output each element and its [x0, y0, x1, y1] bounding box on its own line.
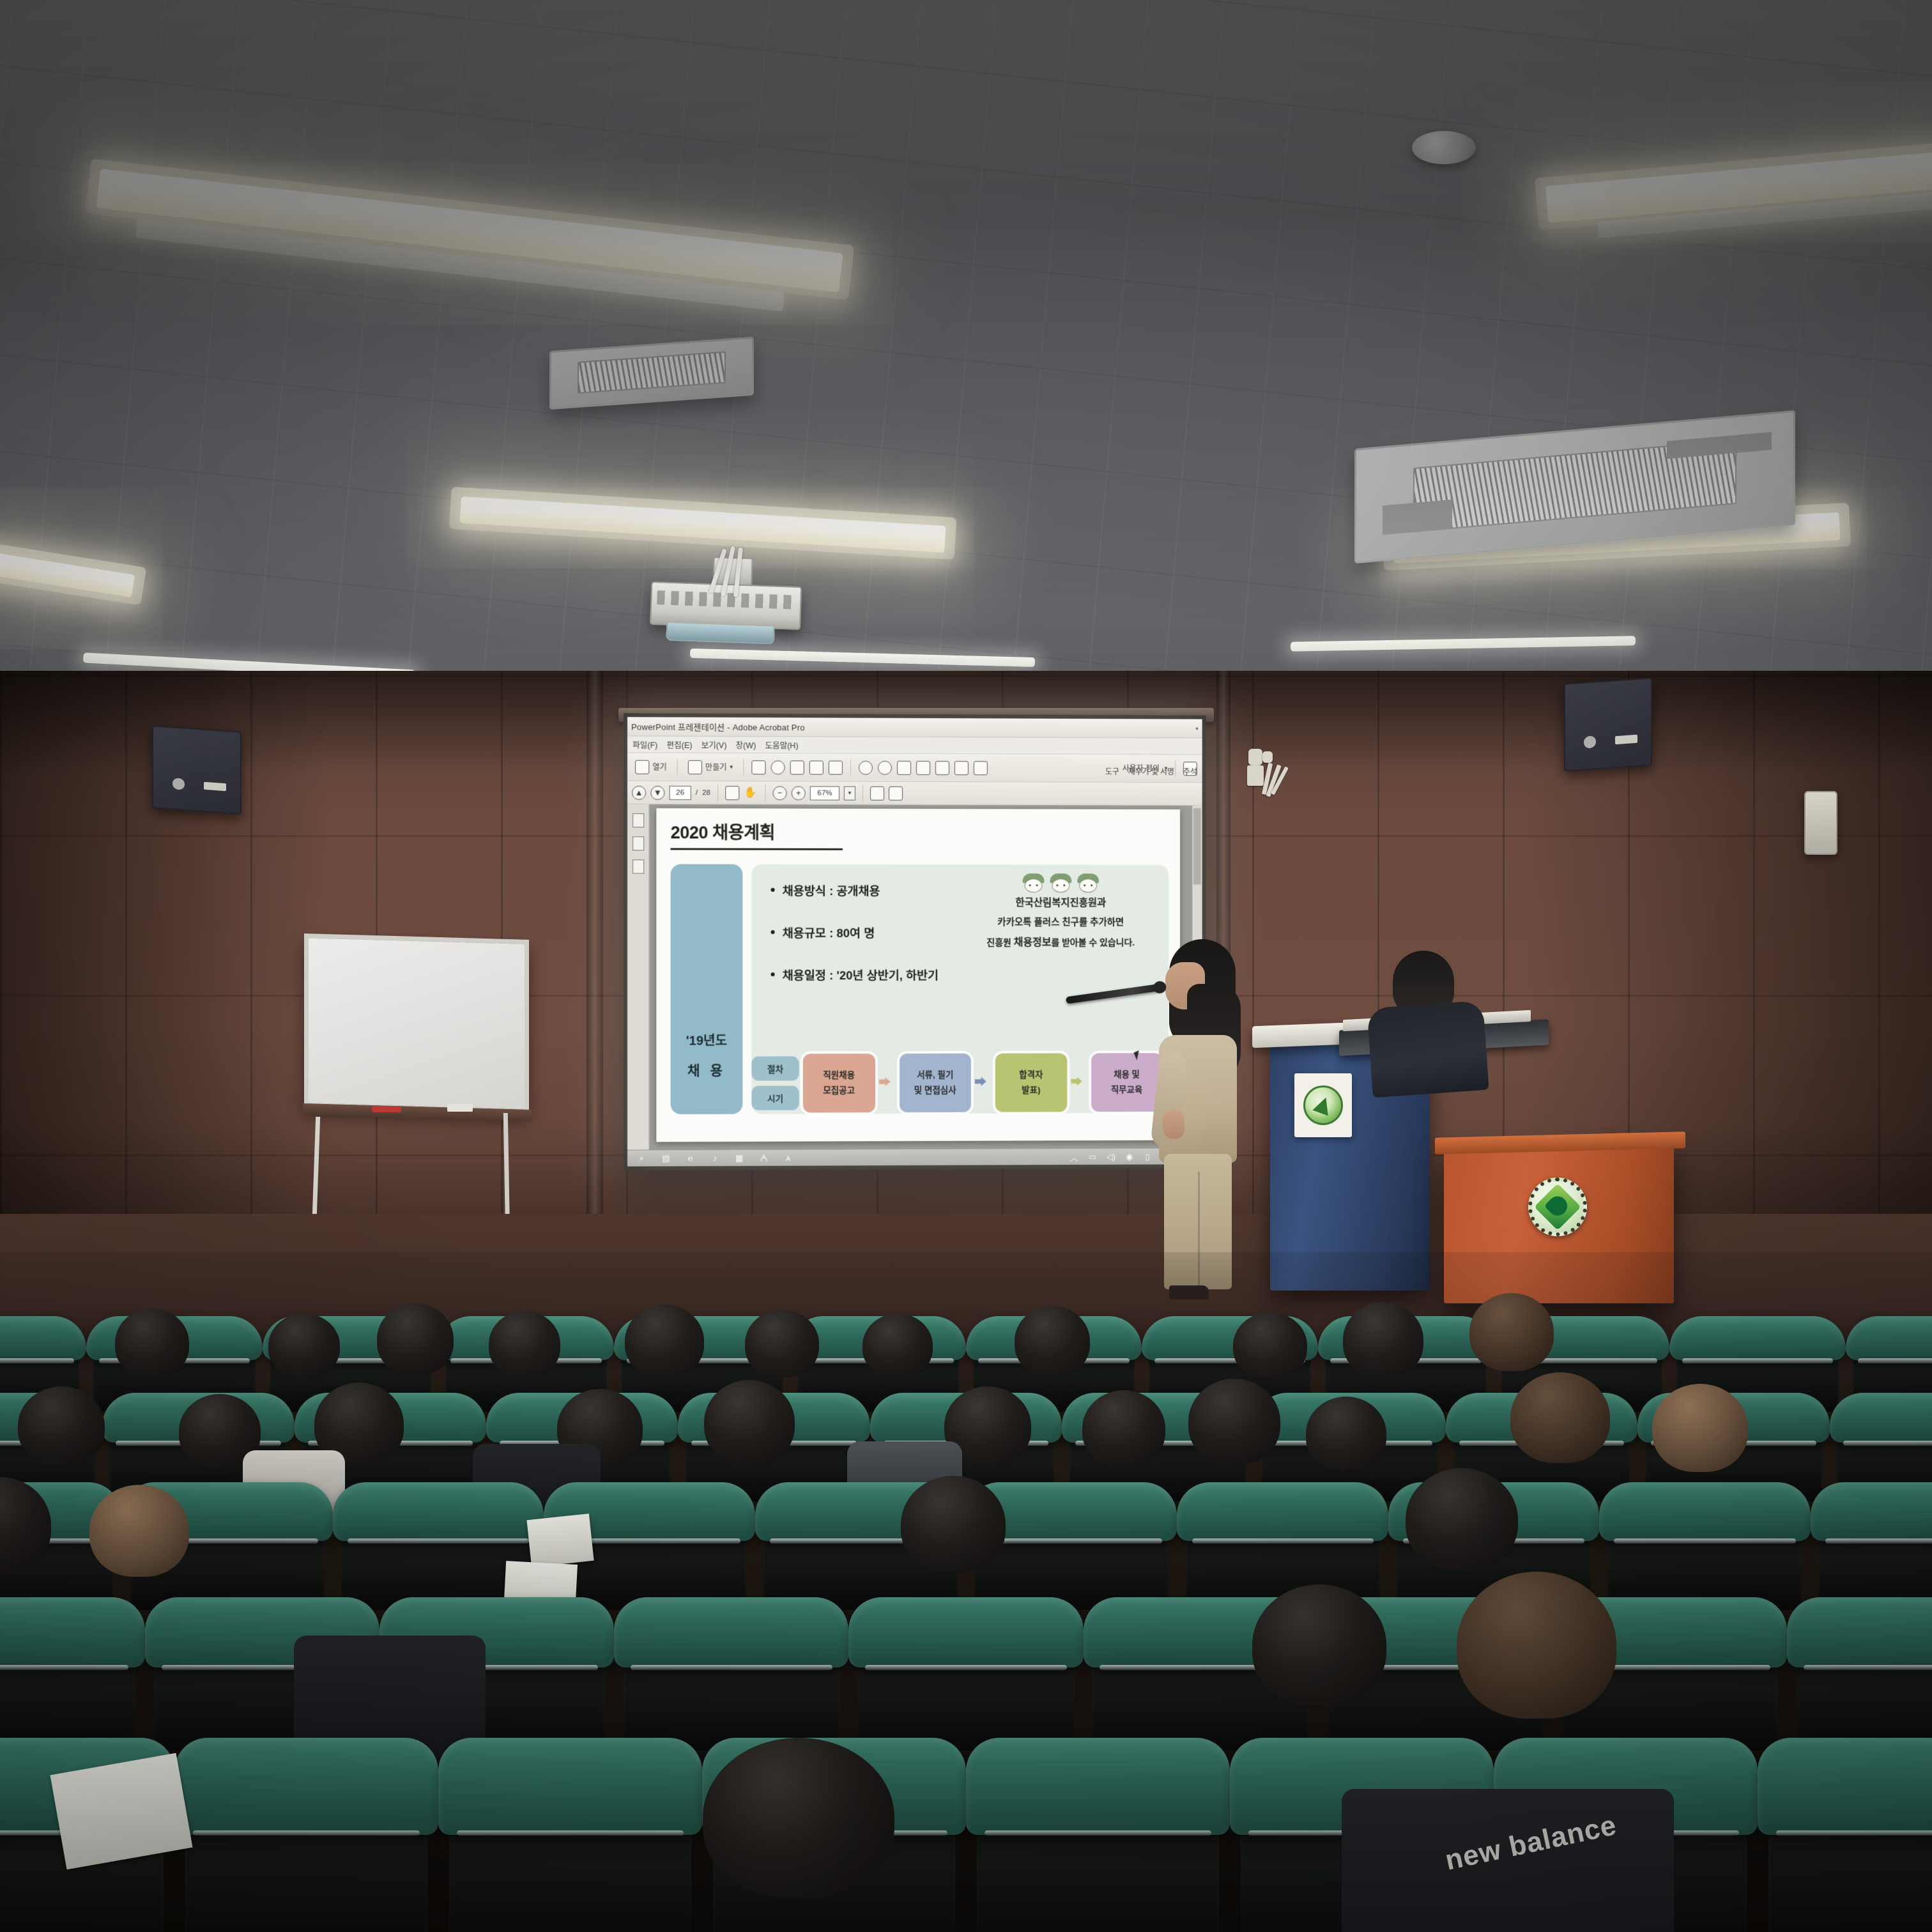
year-tab-line1: '19년도: [686, 1030, 727, 1048]
kakao-line-3-emphasis: 채용정보: [1014, 937, 1052, 948]
slide-body: '19년도 채 용 채용방식 : 공개채용 채용규모 : 80여 명 채용일정 …: [671, 864, 1169, 1115]
create-button[interactable]: 만들기 ▾: [686, 758, 735, 775]
email-icon[interactable]: [829, 760, 843, 774]
slide-title-underline: [671, 848, 843, 850]
thumbnails-pane-icon: [632, 813, 644, 827]
flow-label-procedure: 절차: [751, 1056, 799, 1080]
content-panel: 채용방식 : 공개채용 채용규모 : 80여 명 채용일정 : '20년 상반기…: [751, 864, 1169, 1114]
audience-head: [1510, 1372, 1610, 1463]
flow-step-3: 합격자 발표): [995, 1054, 1067, 1112]
fit-width-icon[interactable]: [870, 786, 884, 800]
flow-step-1-line1: 직원채용: [823, 1070, 855, 1081]
whiteboard-eraser: [447, 1104, 473, 1112]
bullet-item-3: 채용일정 : '20년 상반기, 하반기: [771, 967, 1154, 983]
flow-step-2-line2: 및 면접심사: [914, 1085, 956, 1096]
zoom-caret-icon[interactable]: ▾: [844, 786, 855, 800]
sign-icon[interactable]: [809, 760, 824, 774]
flow-step-4-line1: 채용 및: [1114, 1069, 1140, 1080]
adobe-icon[interactable]: ᴀ: [783, 1153, 793, 1163]
audience-head: [1343, 1302, 1423, 1377]
seat: [848, 1597, 1083, 1751]
wall-speaker-left: [152, 725, 241, 815]
kakao-faces-icon: [965, 873, 1156, 893]
help-icon[interactable]: [974, 761, 988, 775]
page-navigation-toolbar: ▲ ▼ 26 / 28 ✋ − + 67% ▾: [627, 781, 1202, 806]
window-title: PowerPoint 프레젠테이션 - Adobe Acrobat Pro: [631, 720, 805, 733]
institute-emblem-icon: [1528, 1177, 1587, 1236]
kakao-promo-block: 한국산림복지진흥원과 카카오톡 플러스 친구를 추가하면 진흥원 채용정보를 받…: [965, 873, 1156, 949]
audience-head: [1188, 1379, 1280, 1464]
create-caret-icon: ▾: [730, 763, 733, 770]
explorer-icon[interactable]: ▦: [734, 1153, 744, 1163]
cloud-upload-icon[interactable]: [770, 760, 785, 774]
menubar: 파일(F) 편집(E) 보기(V) 창(W) 도움말(H): [627, 736, 1202, 755]
year-tab: '19년도 채 용: [671, 864, 743, 1115]
audience-head: [1252, 1584, 1386, 1706]
audience-head: [18, 1386, 105, 1466]
kakao-line-3-post: 를 받아볼 수 있습니다.: [1051, 937, 1135, 947]
kakao-line-3: 진흥원 채용정보를 받아볼 수 있습니다.: [965, 933, 1156, 949]
flow-step-2: 서류, 필기 및 면접심사: [900, 1054, 971, 1112]
audience-head: [89, 1485, 189, 1577]
audience-head: [1015, 1306, 1090, 1376]
audience-head: [1233, 1312, 1307, 1379]
kakao-line-1: 한국산림복지진흥원과: [965, 895, 1156, 909]
page-total: 28: [702, 789, 710, 797]
audience-head: [901, 1476, 1006, 1573]
menu-view[interactable]: 보기(V): [701, 739, 727, 751]
windows-taskbar: ⌕ ▤ ℮ ♪ ▦ ᗅ ᴀ ︿ ▭ ◁) ◉ ▯ 오후 2:54 2019-12…: [627, 1147, 1202, 1166]
open-button[interactable]: 열기: [632, 758, 670, 775]
hand-tool-icon[interactable]: ✋: [744, 786, 758, 800]
audience-head: [115, 1308, 189, 1377]
seat: [1177, 1482, 1388, 1610]
zoom-out-button[interactable]: −: [773, 786, 787, 800]
export-icon[interactable]: [954, 761, 969, 775]
handout-paper: [526, 1514, 594, 1567]
folder-open-icon: [635, 760, 649, 774]
onedrive-icon[interactable]: ◉: [1124, 1151, 1135, 1161]
menu-window[interactable]: 창(W): [736, 739, 756, 751]
page-thumb-icon[interactable]: [916, 760, 930, 774]
tab-tools[interactable]: 도구: [1105, 766, 1119, 777]
audience-head: [1652, 1384, 1748, 1472]
seat: [1599, 1482, 1810, 1610]
slide-page: 2020 채용계획 '19년도 채 용 채용방식 : 공개채용 채용규모 : 8…: [656, 808, 1180, 1142]
window-titlebar: PowerPoint 프레젠테이션 - Adobe Acrobat Pro ▪: [627, 717, 1202, 738]
projection-screen: PowerPoint 프레젠테이션 - Adobe Acrobat Pro ▪ …: [627, 717, 1202, 1166]
whiteboard-marker: [372, 1106, 401, 1112]
scrollbar-thumb[interactable]: [1193, 808, 1201, 884]
seat: [966, 1738, 1230, 1932]
whiteboard[interactable]: [304, 933, 529, 1114]
search-page-icon[interactable]: [935, 761, 949, 775]
presenter-with-microphone: [1150, 939, 1259, 1297]
audience-head: [268, 1314, 340, 1377]
menu-edit[interactable]: 편집(E): [666, 739, 692, 751]
bookmarks-pane-icon: [632, 836, 644, 850]
audience-head: [625, 1305, 704, 1377]
seat: [614, 1597, 848, 1751]
media-icon[interactable]: ♪: [710, 1153, 720, 1163]
flow-step-2-line1: 서류, 필기: [917, 1069, 953, 1080]
year-tab-line2: 채 용: [687, 1061, 726, 1080]
audience-head: [862, 1314, 933, 1377]
audience-head: [1457, 1572, 1616, 1719]
show-hidden-icon[interactable]: ︿: [1069, 1152, 1079, 1162]
fit-page-icon[interactable]: [889, 786, 903, 800]
wall-thermostat: [1804, 791, 1837, 855]
wall-speaker-right: [1564, 677, 1652, 772]
presenter-hand: [1161, 1109, 1185, 1140]
flow-step-3-line1: 합격자: [1019, 1069, 1043, 1080]
audience-head: [745, 1310, 819, 1377]
seat: [1758, 1738, 1932, 1932]
audience-head: [704, 1380, 795, 1464]
whiteboard-content: [309, 938, 525, 944]
document-area: 2020 채용계획 '19년도 채 용 채용방식 : 공개채용 채용규모 : 8…: [627, 804, 1202, 1150]
presenter-arm: [1150, 1050, 1188, 1149]
recruitment-flow-diagram: 절차 시기 직원채용 모집공고 서류, 필기: [751, 1053, 1162, 1112]
comment-icon[interactable]: [878, 760, 892, 774]
audience-seating: new balance: [0, 1252, 1932, 1932]
acrobat-icon[interactable]: ᗅ: [758, 1153, 769, 1163]
kakao-line-3-pre: 진흥원: [986, 937, 1013, 947]
menu-help[interactable]: 도움말(H): [765, 739, 798, 751]
recycle-emblem-icon: [1303, 1085, 1343, 1125]
podium-operator: [1367, 951, 1489, 1091]
tab-comment[interactable]: 주석: [1183, 766, 1197, 777]
acrobat-window: PowerPoint 프레젠테이션 - Adobe Acrobat Pro ▪ …: [627, 717, 1202, 1166]
flow-label-timing: 시기: [751, 1085, 799, 1110]
kakao-line-2: 카카오톡 플러스 친구를 추가하면: [965, 915, 1156, 928]
audience-head: [489, 1311, 560, 1377]
seat: [438, 1738, 702, 1932]
seat: [1787, 1597, 1932, 1751]
create-label: 만들기: [705, 762, 726, 772]
flow-row-labels: 절차 시기: [751, 1056, 799, 1110]
hanging-keys-icon: [1245, 749, 1302, 819]
create-pdf-icon: [688, 760, 702, 774]
task-view-icon[interactable]: ▤: [661, 1153, 671, 1163]
seat-row-4: [0, 1597, 1932, 1751]
flow-arrow-1-icon: [878, 1075, 895, 1091]
volume-icon[interactable]: ◁): [1106, 1151, 1116, 1161]
network-icon[interactable]: ▭: [1087, 1151, 1098, 1161]
seat: [174, 1738, 438, 1932]
audience-head: [1082, 1390, 1165, 1467]
search-icon[interactable]: ⌕: [636, 1153, 647, 1163]
zoom-in-button[interactable]: +: [792, 786, 806, 800]
seat: [1811, 1482, 1932, 1610]
flow-step-1: 직원채용 모집공고: [803, 1054, 875, 1112]
page-number-input[interactable]: 26: [670, 785, 691, 799]
right-panel-tabs: 도구 채우기 및 서명 주석: [1105, 766, 1197, 777]
zoom-level-input[interactable]: 67%: [810, 786, 839, 800]
photo-scene: PowerPoint 프레젠테이션 - Adobe Acrobat Pro ▪ …: [0, 0, 1932, 1932]
attachments-pane-icon: [632, 859, 644, 873]
audience-head: [1306, 1397, 1386, 1471]
audience-head: [377, 1303, 454, 1375]
menu-file[interactable]: 파일(F): [632, 738, 657, 750]
flow-arrow-3-icon: [1071, 1074, 1087, 1091]
seat: [0, 1597, 145, 1751]
ceiling: [0, 0, 1932, 696]
highlight-icon[interactable]: [897, 760, 911, 774]
page-down-icon[interactable]: ▼: [650, 785, 664, 799]
rotate-icon[interactable]: [859, 760, 873, 774]
edge-icon[interactable]: ℮: [686, 1153, 696, 1163]
print-icon[interactable]: [790, 760, 804, 774]
podium-sign: [1294, 1073, 1352, 1137]
slide-title: 2020 채용계획: [671, 818, 1169, 844]
open-label: 열기: [652, 762, 666, 772]
podium-operator-body: [1367, 1000, 1489, 1098]
tab-fill-and-sign[interactable]: 채우기 및 서명: [1128, 766, 1174, 777]
audience-head-foreground: [703, 1738, 894, 1897]
page-up-icon[interactable]: ▲: [632, 785, 646, 799]
page-separator: /: [696, 789, 698, 797]
navigation-pane-rail[interactable]: [627, 804, 649, 1150]
audience-head: [1469, 1293, 1554, 1371]
audience-head: [1406, 1468, 1518, 1570]
flow-arrow-2-icon: [975, 1075, 992, 1091]
flow-step-1-line2: 모집공고: [823, 1085, 855, 1096]
select-tool-icon[interactable]: [725, 786, 739, 800]
save-icon[interactable]: [751, 760, 765, 774]
flow-step-3-line2: 발표): [1022, 1085, 1040, 1096]
flow-step-4-line2: 직무교육: [1111, 1085, 1142, 1096]
